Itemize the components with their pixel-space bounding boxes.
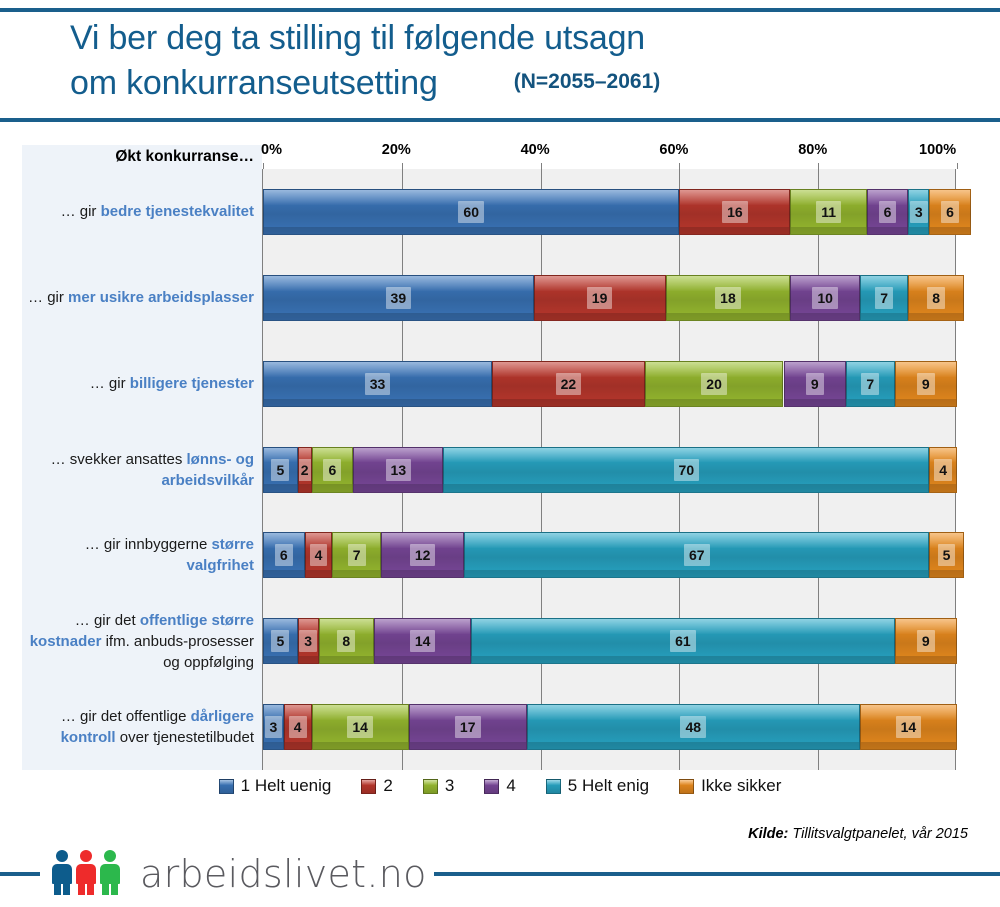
- bar-value-label: 20: [701, 373, 727, 395]
- segment-shadow: [306, 570, 332, 577]
- bar-segment[interactable]: 14: [312, 704, 409, 750]
- category-label-text: … gir innbyggerne: [85, 536, 212, 553]
- bar-segment[interactable]: 4: [284, 704, 312, 750]
- x-axis-tick-mark: [818, 163, 819, 169]
- bar-value-label: 4: [934, 459, 952, 481]
- segment-shadow: [264, 570, 304, 577]
- segment-shadow: [791, 313, 858, 320]
- person-icon: [76, 850, 96, 896]
- segment-shadow: [354, 484, 442, 491]
- segment-shadow: [861, 742, 956, 749]
- bar-value-label: 6: [879, 201, 897, 223]
- segment-shadow: [646, 399, 783, 406]
- bar-row: 52613704: [263, 447, 957, 493]
- category-label-billigere-tjenester: … gir billigere tjenester: [22, 373, 254, 394]
- bar-row: 332220979: [263, 361, 957, 407]
- legend-item[interactable]: Ikke sikker: [679, 776, 781, 796]
- bar-value-label: 14: [410, 630, 436, 652]
- x-axis-tick-label: 80%: [798, 142, 827, 158]
- bar-value-label: 6: [323, 459, 341, 481]
- legend-swatch-highlight: [362, 780, 375, 785]
- bar-value-label: 7: [348, 544, 366, 566]
- bar-segment[interactable]: 61: [471, 618, 894, 664]
- bar-value-label: 3: [910, 201, 928, 223]
- segment-shadow: [299, 656, 318, 663]
- bar-value-label: 22: [556, 373, 582, 395]
- bar-segment[interactable]: 2: [298, 447, 312, 493]
- segment-shadow: [264, 656, 297, 663]
- legend-color-swatch: [423, 779, 438, 794]
- bar-segment[interactable]: 4: [305, 532, 333, 578]
- legend-label: 2: [383, 776, 392, 796]
- bar-value-label: 60: [458, 201, 484, 223]
- segment-shadow: [868, 227, 908, 234]
- legend-swatch-highlight: [485, 780, 498, 785]
- bar-value-label: 18: [715, 287, 741, 309]
- source-text: Tillitsvalgtpanelet, vår 2015: [788, 826, 968, 842]
- bar-value-label: 7: [861, 373, 879, 395]
- page-header: Vi ber deg ta stilling til følgende utsa…: [0, 0, 1000, 124]
- bar-value-label: 12: [410, 544, 436, 566]
- bar-value-label: 61: [670, 630, 696, 652]
- logo-bar: arbeidslivet.no: [0, 854, 1000, 896]
- category-label-text: over tjenestetilbudet: [116, 729, 254, 746]
- category-label-text: … gir: [28, 289, 68, 306]
- bar-value-label: 6: [275, 544, 293, 566]
- segment-shadow: [264, 742, 283, 749]
- plot-area: 0%20%40%60%80%100%6016116363919181078332…: [262, 169, 956, 770]
- segment-shadow: [791, 227, 865, 234]
- category-label-text: … gir: [90, 375, 130, 392]
- bar-segment[interactable]: 17: [409, 704, 527, 750]
- bar-value-label: 5: [271, 630, 289, 652]
- bar-value-label: 3: [265, 716, 283, 738]
- segment-shadow: [847, 399, 894, 406]
- bar-segment[interactable]: 20: [645, 361, 784, 407]
- category-label-text: … svekker ansattes: [51, 451, 187, 468]
- bar-value-label: 9: [917, 373, 935, 395]
- person-icon: [52, 850, 72, 896]
- bar-segment[interactable]: 5: [929, 532, 964, 578]
- segment-shadow: [861, 313, 908, 320]
- bar-segment[interactable]: 8: [319, 618, 375, 664]
- sample-size-label: (N=2055–2061): [514, 60, 661, 104]
- bar-value-label: 11: [816, 201, 841, 223]
- category-label-storre-valgfrihet: … gir innbyggerne større valgfrihet: [22, 534, 254, 576]
- x-axis-tick-mark: [263, 163, 264, 169]
- segment-shadow: [896, 656, 956, 663]
- category-label-darligere-kontroll: … gir det offentlige dårligere kontroll …: [22, 706, 254, 748]
- bar-segment[interactable]: 33: [263, 361, 492, 407]
- bar-segment[interactable]: 3: [298, 618, 319, 664]
- segment-shadow: [930, 570, 963, 577]
- category-label-svekker-lonns-og-arbeidsvilkar: … svekker ansattes lønns- og arbeidsvilk…: [22, 449, 254, 491]
- bar-segment[interactable]: 4: [929, 447, 957, 493]
- page-title-line-1: Vi ber deg ta stilling til følgende utsa…: [70, 16, 980, 60]
- bar-segment[interactable]: 12: [381, 532, 464, 578]
- bar-value-label: 8: [927, 287, 945, 309]
- bar-segment[interactable]: 8: [908, 275, 964, 321]
- legend-swatch-highlight: [680, 780, 693, 785]
- bar-value-label: 4: [289, 716, 307, 738]
- bar-segment[interactable]: 14: [374, 618, 471, 664]
- x-axis-tick-label: 0%: [261, 142, 282, 158]
- x-axis-tick-label: 100%: [919, 142, 956, 158]
- segment-shadow: [444, 484, 928, 491]
- x-axis-tick-label: 60%: [659, 142, 688, 158]
- person-icon-body: [52, 864, 72, 884]
- bar-segment[interactable]: 39: [263, 275, 534, 321]
- bar-segment[interactable]: 10: [790, 275, 859, 321]
- page-title-line-2-text: om konkurranseutsetting: [70, 64, 438, 102]
- person-icon-body: [100, 864, 120, 884]
- segment-shadow: [785, 399, 845, 406]
- legend-item[interactable]: 4: [484, 776, 515, 796]
- x-axis-tick-mark: [402, 163, 403, 169]
- person-icon-head: [80, 850, 92, 862]
- bar-segment[interactable]: 6: [867, 189, 909, 235]
- title-block: Vi ber deg ta stilling til følgende utsa…: [70, 16, 980, 105]
- legend-item[interactable]: 1 Helt uenig: [219, 776, 332, 796]
- bar-segment[interactable]: 22: [492, 361, 645, 407]
- bar-segment[interactable]: 11: [790, 189, 866, 235]
- bar-segment[interactable]: 6: [312, 447, 354, 493]
- bar-segment[interactable]: 48: [527, 704, 860, 750]
- segment-shadow: [313, 742, 408, 749]
- bar-value-label: 39: [386, 287, 412, 309]
- segment-shadow: [909, 313, 963, 320]
- person-icon-body: [76, 864, 96, 884]
- bar-value-label: 7: [875, 287, 893, 309]
- segment-shadow: [299, 484, 311, 491]
- bar-value-label: 5: [938, 544, 956, 566]
- legend-label: 5 Helt enig: [568, 776, 649, 796]
- bar-segment[interactable]: 13: [353, 447, 443, 493]
- header-bottom-rule: [0, 118, 1000, 122]
- footer-rule: [434, 872, 1000, 876]
- bar-segment[interactable]: 7: [332, 532, 381, 578]
- bar-segment[interactable]: 70: [443, 447, 929, 493]
- bar-value-label: 10: [812, 287, 838, 309]
- legend-swatch-highlight: [220, 780, 233, 785]
- bar-row: 64712675: [263, 532, 957, 578]
- legend-color-swatch: [546, 779, 561, 794]
- y-axis-title: Økt konkurranse…: [22, 145, 254, 169]
- bar-value-label: 6: [941, 201, 959, 223]
- legend-color-swatch: [484, 779, 499, 794]
- bar-row: 53814619: [263, 618, 957, 664]
- bar-value-label: 13: [386, 459, 412, 481]
- legend-label: 1 Helt uenig: [241, 776, 332, 796]
- bar-segment[interactable]: 14: [860, 704, 957, 750]
- category-label-emphasis: mer usikre arbeidsplasser: [68, 289, 254, 306]
- legend-color-swatch: [679, 779, 694, 794]
- segment-shadow: [264, 399, 491, 406]
- person-icon-head: [56, 850, 68, 862]
- bar-segment[interactable]: 5: [263, 447, 298, 493]
- bar-segment[interactable]: 5: [263, 618, 298, 664]
- legend-label: 4: [506, 776, 515, 796]
- category-label-offentlige-storre-kostnader: … gir det offentlige større kostnader if…: [22, 610, 254, 673]
- segment-shadow: [896, 399, 956, 406]
- bar-value-label: 2: [298, 459, 312, 481]
- bar-segment[interactable]: 9: [784, 361, 846, 407]
- category-label-text: ifm. anbuds-prosesser og oppfølging: [101, 633, 254, 671]
- legend-item[interactable]: 5 Helt enig: [546, 776, 649, 796]
- legend-color-swatch: [361, 779, 376, 794]
- segment-shadow: [909, 227, 928, 234]
- segment-shadow: [493, 399, 644, 406]
- category-label-mer-usikre-arbeidsplasser: … gir mer usikre arbeidsplasser: [22, 287, 254, 308]
- bar-segment[interactable]: 9: [895, 361, 957, 407]
- bar-segment[interactable]: 7: [846, 361, 895, 407]
- bar-segment[interactable]: 16: [679, 189, 790, 235]
- bar-value-label: 9: [806, 373, 824, 395]
- bar-value-label: 67: [684, 544, 710, 566]
- category-label-text: … gir det offentlige: [61, 708, 191, 725]
- bar-value-label: 14: [896, 716, 922, 738]
- bar-value-label: 33: [365, 373, 391, 395]
- brand-name: arbeidslivet.no: [140, 852, 427, 896]
- bar-segment[interactable]: 67: [464, 532, 929, 578]
- bar-segment[interactable]: 18: [666, 275, 791, 321]
- header-top-rule: [0, 8, 1000, 12]
- x-axis-tick-mark: [541, 163, 542, 169]
- bar-segment[interactable]: 6: [929, 189, 971, 235]
- source-note: Kilde: Tillitsvalgtpanelet, vår 2015: [748, 826, 968, 842]
- person-icon-leg-r: [63, 883, 70, 895]
- bar-row: 601611636: [263, 189, 957, 235]
- segment-shadow: [667, 313, 790, 320]
- segment-shadow: [472, 656, 893, 663]
- segment-shadow: [410, 742, 526, 749]
- segment-shadow: [313, 484, 353, 491]
- segment-shadow: [382, 570, 463, 577]
- bar-segment[interactable]: 19: [534, 275, 666, 321]
- segment-shadow: [375, 656, 470, 663]
- legend-item[interactable]: 3: [423, 776, 454, 796]
- segment-shadow: [465, 570, 928, 577]
- bar-value-label: 4: [310, 544, 328, 566]
- person-icon-leg-r: [87, 883, 94, 895]
- page-title-line-2: om konkurranseutsetting(N=2055–2061): [70, 60, 980, 105]
- bar-value-label: 5: [271, 459, 289, 481]
- person-icon-head: [104, 850, 116, 862]
- bar-segment[interactable]: 3: [908, 189, 929, 235]
- bar-segment[interactable]: 3: [263, 704, 284, 750]
- person-icon-leg-r: [111, 883, 118, 895]
- category-label-emphasis: bedre tjenestekvalitet: [101, 203, 254, 220]
- segment-shadow: [333, 570, 380, 577]
- bar-value-label: 70: [674, 459, 700, 481]
- x-axis-tick-label: 20%: [382, 142, 411, 158]
- segment-shadow: [528, 742, 859, 749]
- bar-segment[interactable]: 60: [263, 189, 679, 235]
- legend-swatch-highlight: [547, 780, 560, 785]
- bar-value-label: 8: [337, 630, 355, 652]
- bar-value-label: 48: [680, 716, 706, 738]
- category-label-emphasis: billigere tjenester: [130, 375, 254, 392]
- segment-shadow: [930, 484, 956, 491]
- x-axis-tick-mark: [679, 163, 680, 169]
- segment-shadow: [680, 227, 789, 234]
- legend-swatch-highlight: [424, 780, 437, 785]
- bar-segment[interactable]: 7: [860, 275, 909, 321]
- bar-segment[interactable]: 6: [263, 532, 305, 578]
- bar-value-label: 9: [917, 630, 935, 652]
- bar-segment[interactable]: 9: [895, 618, 957, 664]
- source-prefix: Kilde:: [748, 826, 788, 842]
- footer-left-dash: [0, 872, 40, 876]
- bar-value-label: 14: [347, 716, 373, 738]
- segment-shadow: [930, 227, 970, 234]
- x-axis-tick-mark: [957, 163, 958, 169]
- bar-row: 3919181078: [263, 275, 957, 321]
- logo-figures-icon: [52, 850, 124, 896]
- category-label-bedre-tjenestekvalitet: … gir bedre tjenestekvalitet: [22, 201, 254, 222]
- chart-legend: 1 Helt uenig2345 Helt enigIkke sikker: [0, 764, 1000, 808]
- legend-label: 3: [445, 776, 454, 796]
- category-label-text: … gir: [61, 203, 101, 220]
- person-icon-leg-l: [102, 883, 109, 895]
- legend-item[interactable]: 2: [361, 776, 392, 796]
- chart-container: Økt konkurranse… … gir bedre tjenestekva…: [0, 124, 1000, 810]
- person-icon: [100, 850, 120, 896]
- category-label-text: … gir det: [75, 612, 140, 629]
- bar-value-label: 16: [722, 201, 748, 223]
- segment-shadow: [264, 227, 678, 234]
- segment-shadow: [264, 484, 297, 491]
- person-icon-leg-l: [78, 883, 85, 895]
- segment-shadow: [264, 313, 533, 320]
- segment-shadow: [535, 313, 665, 320]
- person-icon-leg-l: [54, 883, 61, 895]
- bar-value-label: 3: [299, 630, 317, 652]
- bar-row: 3414174814: [263, 704, 957, 750]
- bar-value-label: 19: [587, 287, 613, 309]
- segment-shadow: [320, 656, 374, 663]
- x-axis-tick-label: 40%: [521, 142, 550, 158]
- bar-value-label: 17: [455, 716, 481, 738]
- legend-color-swatch: [219, 779, 234, 794]
- page-footer: Kilde: Tillitsvalgtpanelet, vår 2015 arb…: [0, 810, 1000, 907]
- segment-shadow: [285, 742, 311, 749]
- legend-label: Ikke sikker: [701, 776, 781, 796]
